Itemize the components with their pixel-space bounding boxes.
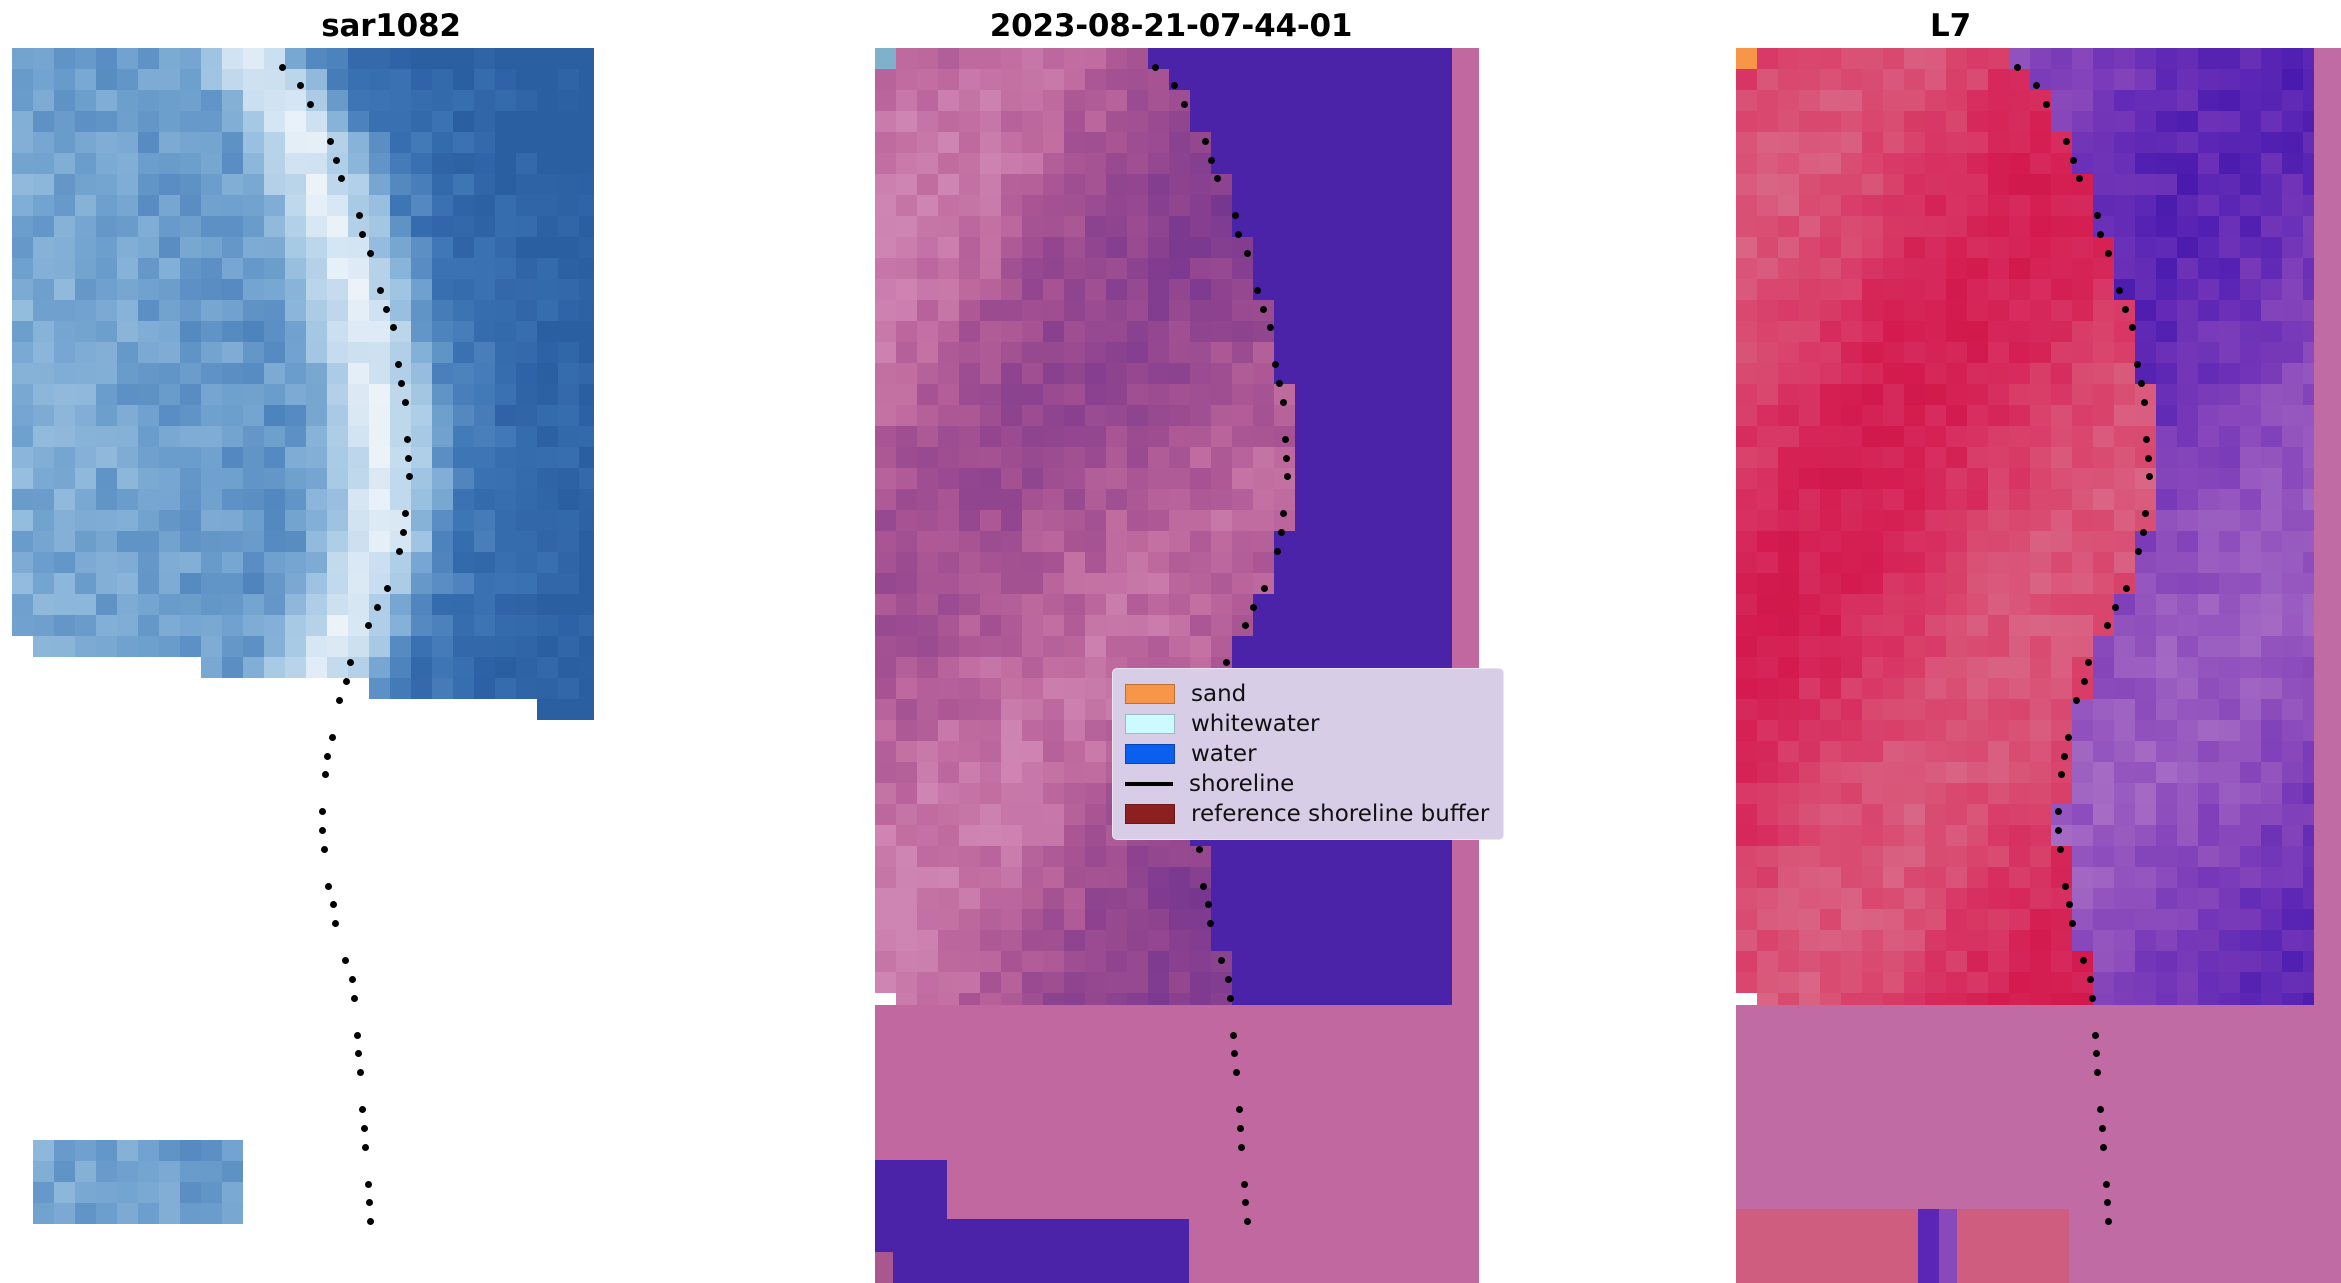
axes-sar[interactable] bbox=[12, 48, 594, 1283]
panel-l7: L7 bbox=[1560, 0, 2341, 1283]
raster-sar bbox=[12, 48, 594, 1283]
legend-label: shoreline bbox=[1189, 771, 1294, 797]
legend-item-shoreline: shoreline bbox=[1125, 769, 1489, 799]
axes-classified[interactable] bbox=[875, 48, 1479, 1283]
legend-label: reference shoreline buffer bbox=[1191, 801, 1489, 827]
legend-swatch-whitewater-icon bbox=[1125, 714, 1175, 734]
legend-swatch-shoreline-icon bbox=[1125, 782, 1173, 786]
panel-sar1082: sar1082 bbox=[0, 0, 782, 1283]
legend-swatch-sand-icon bbox=[1125, 684, 1175, 704]
legend-item-reference-shoreline-buffer: reference shoreline buffer bbox=[1125, 799, 1489, 829]
legend-swatch-water-icon bbox=[1125, 744, 1175, 764]
panel-title-sar: sar1082 bbox=[0, 8, 782, 44]
legend-item-water: water bbox=[1125, 739, 1489, 769]
panel-classified: 2023-08-21-07-44-01 bbox=[782, 0, 1560, 1283]
legend-item-sand: sand bbox=[1125, 679, 1489, 709]
legend-label: sand bbox=[1191, 681, 1246, 707]
legend-item-whitewater: whitewater bbox=[1125, 709, 1489, 739]
legend-label: whitewater bbox=[1191, 711, 1319, 737]
axes-l7[interactable] bbox=[1736, 48, 2341, 1283]
panel-title-l7: L7 bbox=[1560, 8, 2341, 44]
figure-canvas: sar1082 2023-08-21-07-44-01 L7 sandwhite… bbox=[0, 0, 2341, 1283]
legend-box[interactable]: sandwhitewaterwatershorelinereference sh… bbox=[1112, 668, 1504, 840]
legend-swatch-reference-shoreline-buffer-icon bbox=[1125, 804, 1175, 824]
legend-label: water bbox=[1191, 741, 1257, 767]
whitewater-pixel bbox=[875, 48, 896, 69]
raster-classified bbox=[875, 48, 1479, 1283]
panel-title-classified: 2023-08-21-07-44-01 bbox=[782, 8, 1560, 44]
sand-pixel bbox=[1736, 48, 1757, 69]
raster-l7 bbox=[1736, 48, 2341, 1283]
